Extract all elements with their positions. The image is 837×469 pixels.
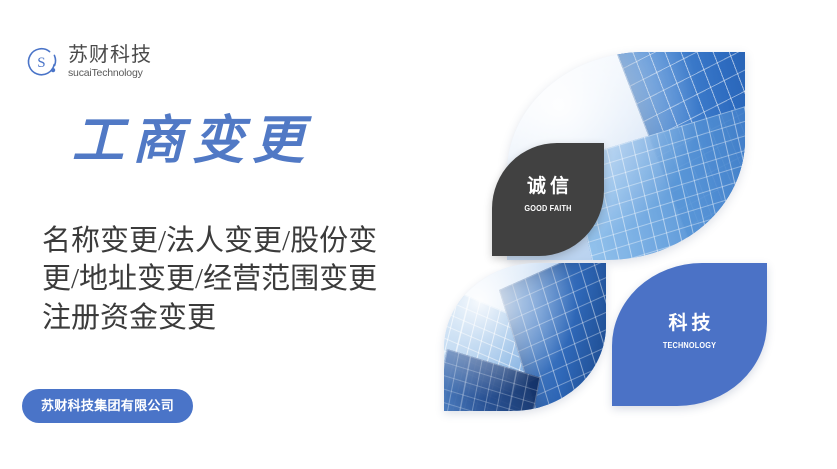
glass-office-buildings-photo — [444, 263, 606, 411]
petal-photo-bottom — [444, 263, 606, 411]
page-title: 工商变更 — [72, 116, 312, 168]
circle-s-logo-icon: S — [24, 44, 60, 80]
svg-text:S: S — [37, 55, 45, 71]
petal-technology-label: 科技 TECHNOLOGY — [612, 314, 767, 350]
brand-logo[interactable]: S 苏财科技 sucaiTechnology — [24, 44, 152, 80]
poster-canvas: S 苏财科技 sucaiTechnology 工商变更 名称变更/法人变更/股份… — [0, 0, 837, 469]
brand-name-cn: 苏财科技 — [68, 45, 152, 65]
petal-technology-en: TECHNOLOGY — [623, 340, 756, 350]
company-name-button[interactable]: 苏财科技集团有限公司 — [22, 389, 193, 423]
petal-technology[interactable]: 科技 TECHNOLOGY — [612, 263, 767, 406]
petal-technology-cn: 科技 — [612, 314, 767, 335]
petal-good-faith-cn: 诚信 — [492, 177, 604, 198]
brand-name-en: sucaiTechnology — [68, 68, 152, 79]
petal-good-faith-en: GOOD FAITH — [500, 203, 596, 213]
petal-cluster: 诚信 GOOD FAITH 科技 TECHNOLOGY — [432, 0, 837, 469]
brand-wordmark: 苏财科技 sucaiTechnology — [68, 45, 152, 79]
page-subtitle: 名称变更/法人变更/股份变更/地址变更/经营范围变更注册资金变更 — [42, 222, 394, 337]
petal-good-faith-label: 诚信 GOOD FAITH — [492, 177, 604, 213]
